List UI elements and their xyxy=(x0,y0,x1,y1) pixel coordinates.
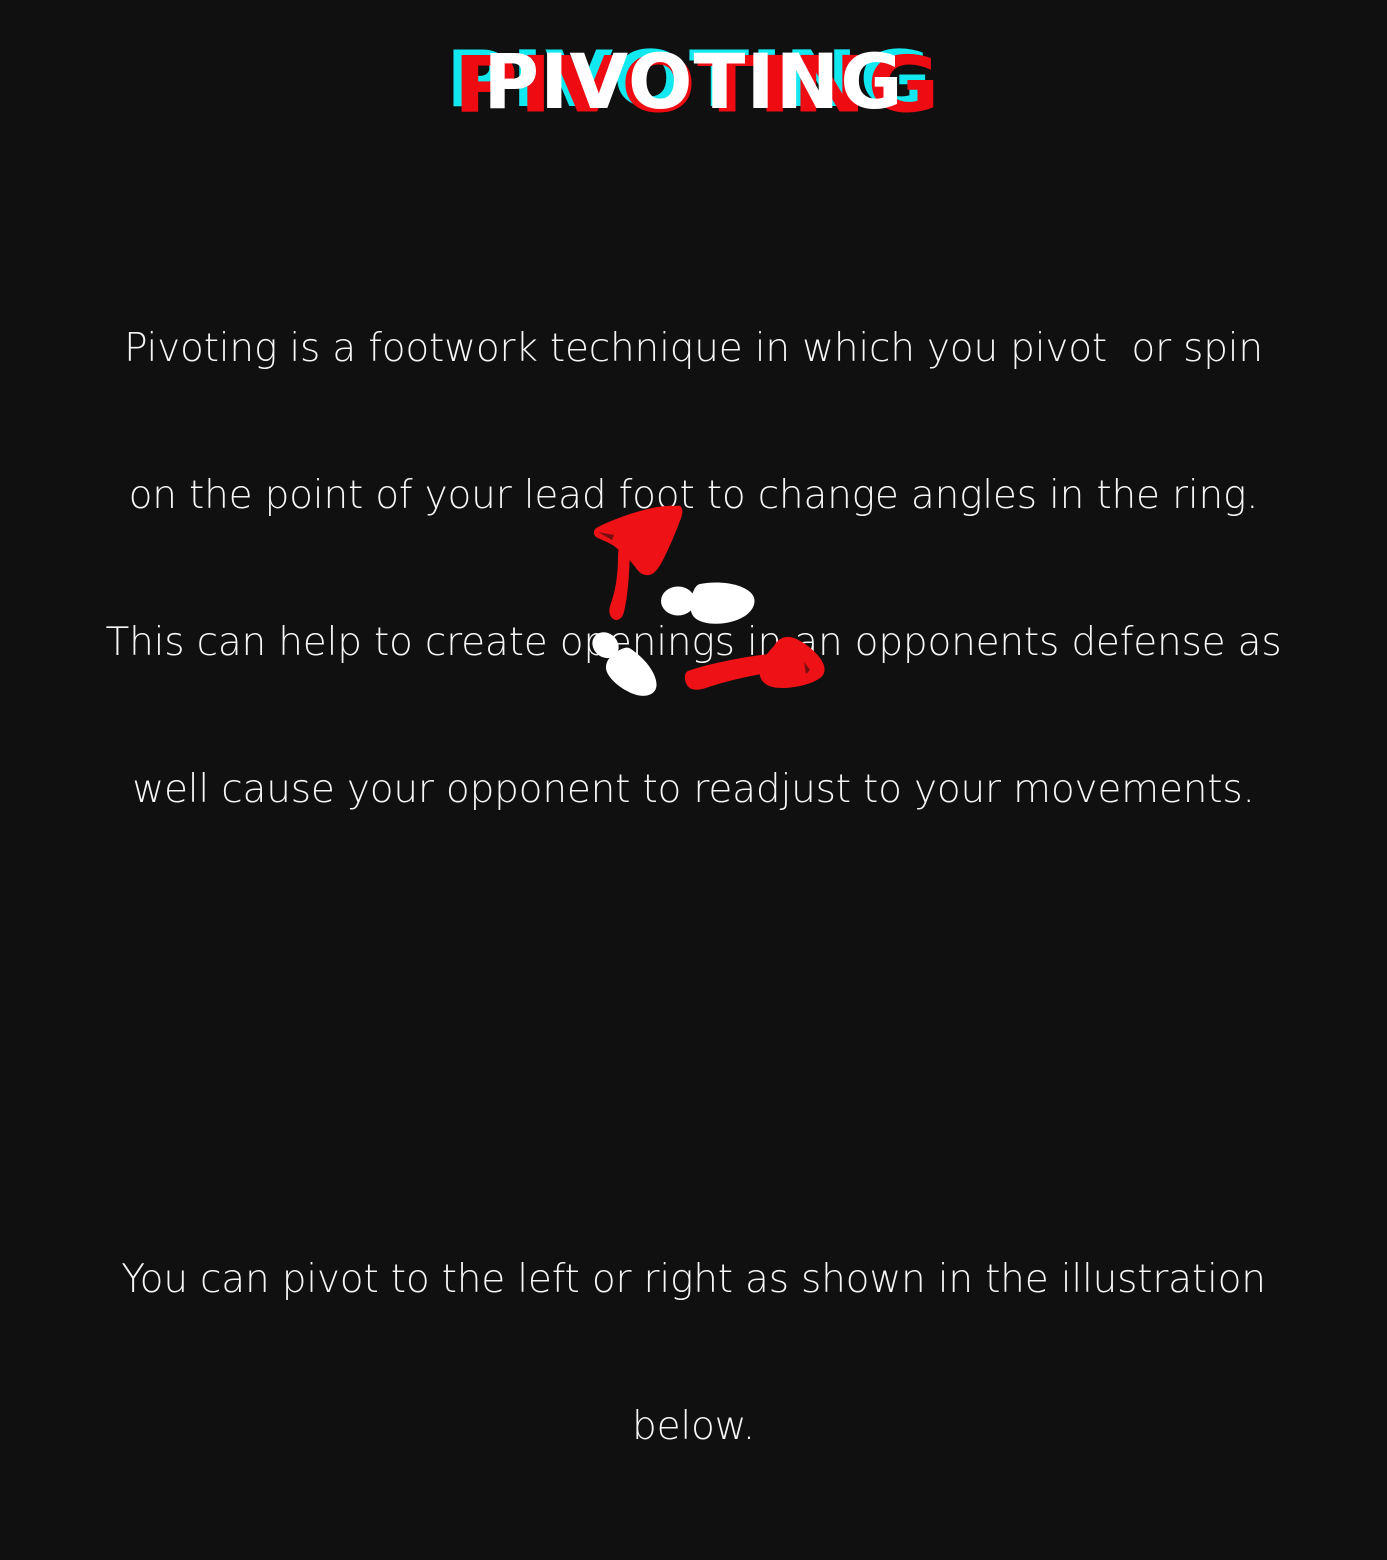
body-copy: Pivoting is a footwork technique in whic… xyxy=(0,128,1387,1560)
page-title: PIVOTING PIVOTING PIVOTING xyxy=(0,44,1387,134)
arrow-pivot-right-icon xyxy=(685,637,825,690)
pivot-illustration-svg xyxy=(560,480,850,710)
title-text: PIVOTING xyxy=(483,37,903,126)
footprint-rear-icon xyxy=(581,625,666,706)
paragraph-2: You can pivot to the left or right as sh… xyxy=(0,1157,1387,1549)
paragraph-2-line-2: below. xyxy=(0,1402,1387,1451)
paragraph-2-line-1: You can pivot to the left or right as sh… xyxy=(0,1255,1387,1304)
footprint-lead-icon xyxy=(661,582,755,623)
pivot-illustration xyxy=(560,480,850,710)
slide-canvas: PIVOTING PIVOTING PIVOTING Pivoting is a… xyxy=(0,0,1387,780)
paragraph-1-line-4: well cause your opponent to readjust to … xyxy=(0,765,1387,814)
title-glitch-stack: PIVOTING PIVOTING PIVOTING xyxy=(483,44,903,120)
paragraph-1-line-1: Pivoting is a footwork technique in whic… xyxy=(0,324,1387,373)
paragraph-spacer xyxy=(0,1010,1387,1059)
